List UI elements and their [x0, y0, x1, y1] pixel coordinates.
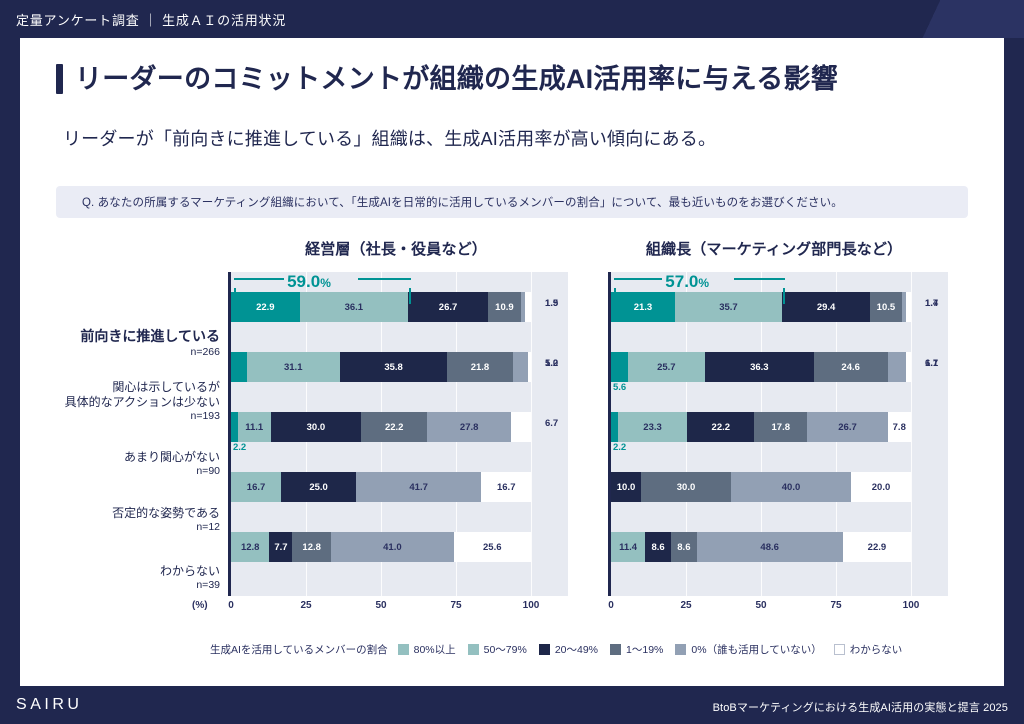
- bar-segment: 16.7: [481, 472, 531, 502]
- legend-label: 0%（誰も活用していない）: [691, 642, 821, 657]
- x-axis-executive: 0255075100: [228, 600, 568, 616]
- x-axis-tick: 100: [523, 600, 540, 611]
- bar-value-outside: 5.2: [545, 358, 558, 369]
- title-text: リーダーのコミットメントが組織の生成AI活用率に与える影響: [75, 66, 838, 93]
- bar-segment: 48.6: [697, 532, 843, 562]
- chart-title-manager: 組織長（マーケティング部門長など）: [604, 238, 944, 259]
- bracket-top-line-left: [234, 278, 284, 280]
- title-accent-bar: [56, 64, 63, 94]
- slide: 定量アンケート調査 ｜ 生成ＡＩの活用状況 リーダーのコミットメントが組織の生成…: [0, 0, 1024, 724]
- legend-item: 50〜79%: [468, 642, 527, 657]
- bar-segment: 12.8: [231, 532, 269, 562]
- x-axis-tick: 25: [300, 600, 311, 611]
- bar-segment: [906, 292, 911, 322]
- legend-item: わからない: [834, 642, 903, 657]
- brand-logo: SAIRU: [16, 696, 83, 714]
- bar-segment: 41.7: [356, 472, 481, 502]
- bar-segment: [231, 352, 247, 382]
- bar-segment: 20.0: [851, 472, 911, 502]
- bar-segment: 7.8: [888, 412, 911, 442]
- bracket-top-line-left: [614, 278, 662, 280]
- row-label-count: n=12: [30, 521, 220, 534]
- bar-segment: 40.0: [731, 472, 851, 502]
- chart-legend: 生成AIを活用しているメンバーの割合 80%以上50〜79%20〜49%1〜19…: [210, 640, 970, 658]
- stacked-bar: 23.322.217.826.77.8: [611, 412, 911, 442]
- row-label: あまり関心がないn=90: [30, 450, 220, 478]
- legend-swatch: [539, 644, 550, 655]
- bar-segment: [511, 412, 531, 442]
- bar-segment: 23.3: [618, 412, 688, 442]
- bar-value-below: 2.2: [613, 442, 626, 453]
- legend-swatch: [675, 644, 686, 655]
- subtitle: リーダーが「前向きに推進している」組織は、生成AI活用率が高い傾向にある。: [63, 125, 716, 151]
- bar-segment: 35.8: [340, 352, 447, 382]
- bar-segment: 36.3: [705, 352, 814, 382]
- question-text: Q. あなたの所属するマーケティング組織において、「生成AIを日常的に活用してい…: [82, 194, 843, 210]
- bar-segment: 25.7: [628, 352, 705, 382]
- chart-manager: 1.71.421.335.729.410.51.76.15.625.736.32…: [608, 272, 948, 596]
- bracket-top-line-right: [734, 278, 785, 280]
- bar-segment: 10.5: [870, 292, 902, 322]
- legend-item: 20〜49%: [539, 642, 598, 657]
- bar-segment: 22.2: [687, 412, 754, 442]
- stacked-bar: 31.135.821.8: [231, 352, 531, 382]
- stacked-bar: 16.725.041.716.7: [231, 472, 531, 502]
- stacked-bar: 10.030.040.020.0: [611, 472, 911, 502]
- bracket-left-tick: [234, 288, 236, 304]
- bar-value-outside: 6.1: [925, 358, 938, 369]
- bracket-top-line-right: [358, 278, 411, 280]
- row-label: わからないn=39: [30, 564, 220, 592]
- row-label-column: 前向きに推進しているn=266関心は示しているが具体的なアクションは少ないn=1…: [28, 272, 220, 596]
- highlight-bracket: 59.0%: [234, 278, 411, 304]
- bar-segment: 16.7: [231, 472, 281, 502]
- bar-segment: [525, 292, 531, 322]
- bar-segment: [528, 352, 531, 382]
- bar-segment: 17.8: [754, 412, 807, 442]
- bar-segment: 26.7: [408, 292, 488, 322]
- row-label-count: n=266: [30, 346, 220, 359]
- bar-value-outside: 1.4: [925, 298, 938, 309]
- legend-label: 50〜79%: [484, 642, 527, 657]
- bracket-label: 57.0%: [665, 272, 709, 292]
- bar-segment: 27.8: [427, 412, 510, 442]
- bar-segment: 25.6: [454, 532, 531, 562]
- x-axis-tick: 75: [450, 600, 461, 611]
- bar-segment: 25.0: [281, 472, 356, 502]
- row-label-count: n=90: [30, 465, 220, 478]
- row-label-name: 関心は示しているが: [30, 380, 220, 395]
- x-axis-tick: 50: [375, 600, 386, 611]
- row-label: 否定的な姿勢であるn=12: [30, 506, 220, 534]
- chart-executive: 1.91.522.936.126.710.91.05.231.135.821.8…: [228, 272, 568, 596]
- legend-label: 1〜19%: [626, 642, 663, 657]
- x-axis-manager: 0255075100: [608, 600, 948, 616]
- legend-item: 0%（誰も活用していない）: [675, 642, 821, 657]
- bar-segment: 22.2: [361, 412, 428, 442]
- bar-value-below: 2.2: [233, 442, 246, 453]
- bar-segment: 12.8: [292, 532, 330, 562]
- bar-segment: [906, 352, 911, 382]
- stacked-bar: 11.130.022.227.8: [231, 412, 531, 442]
- corner-decoration: [854, 0, 1024, 38]
- top-bar: 定量アンケート調査 ｜ 生成ＡＩの活用状況: [0, 0, 1024, 38]
- chart-row: 16.725.041.716.7: [231, 456, 568, 516]
- bracket-label: 59.0%: [287, 272, 331, 292]
- bar-segment: 8.6: [671, 532, 697, 562]
- question-banner: Q. あなたの所属するマーケティング組織において、「生成AIを日常的に活用してい…: [56, 186, 968, 218]
- legend-item: 1〜19%: [610, 642, 663, 657]
- content-card: リーダーのコミットメントが組織の生成AI活用率に与える影響 リーダーが「前向きに…: [20, 38, 1004, 686]
- bracket-left-tick: [614, 288, 616, 304]
- footer-bar: SAIRU BtoBマーケティングにおける生成AI活用の実態と提言 2025: [0, 686, 1024, 724]
- bar-segment: 26.7: [807, 412, 887, 442]
- bracket-right-tick: [783, 288, 785, 304]
- bar-segment: [231, 412, 238, 442]
- bar-value-outside: 6.7: [545, 418, 558, 429]
- bar-segment: 30.0: [641, 472, 731, 502]
- page-title: リーダーのコミットメントが組織の生成AI活用率に与える影響: [56, 64, 838, 94]
- legend-item: 80%以上: [398, 642, 456, 657]
- stacked-bar: 12.87.712.841.025.6: [231, 532, 531, 562]
- legend-label: 20〜49%: [555, 642, 598, 657]
- x-axis-unit: (%): [192, 600, 208, 611]
- bar-segment: [611, 352, 628, 382]
- legend-swatch: [834, 644, 845, 655]
- bar-segment: 31.1: [247, 352, 340, 382]
- row-label-name: 前向きに推進している: [30, 328, 220, 346]
- bar-segment: [888, 352, 906, 382]
- x-axis-tick: 75: [830, 600, 841, 611]
- bar-segment: 11.1: [238, 412, 271, 442]
- bar-segment: 22.9: [843, 532, 912, 562]
- row-label-count: n=193: [30, 410, 220, 423]
- row-label-name: あまり関心がない: [30, 450, 220, 465]
- bar-segment: 30.0: [271, 412, 361, 442]
- legend-swatch: [398, 644, 409, 655]
- chart-row: 12.87.712.841.025.6: [231, 516, 568, 576]
- bar-segment: 24.6: [814, 352, 888, 382]
- bar-segment: 10.9: [488, 292, 521, 322]
- bracket-right-tick: [409, 288, 411, 304]
- bar-segment: [611, 412, 618, 442]
- x-axis-tick: 50: [755, 600, 766, 611]
- footer-note: BtoBマーケティングにおける生成AI活用の実態と提言 2025: [713, 699, 1008, 715]
- row-label: 関心は示しているが具体的なアクションは少ないn=193: [30, 380, 220, 423]
- bar-segment: 7.7: [269, 532, 292, 562]
- bar-value-below: 5.6: [613, 382, 626, 393]
- x-axis-tick: 0: [608, 600, 614, 611]
- x-axis-tick: 100: [903, 600, 920, 611]
- bar-segment: 29.4: [782, 292, 870, 322]
- x-axis-tick: 25: [680, 600, 691, 611]
- stacked-bar: 11.48.68.648.622.9: [611, 532, 911, 562]
- bar-value-outside: 1.5: [545, 298, 558, 309]
- chart-title-executive: 経営層（社長・役員など）: [226, 238, 566, 259]
- legend-swatch: [468, 644, 479, 655]
- chart-row: 1.05.231.135.821.8: [231, 336, 568, 396]
- row-label-name: 具体的なアクションは少ない: [30, 395, 220, 410]
- bar-segment: [513, 352, 529, 382]
- stacked-bar: 25.736.324.6: [611, 352, 911, 382]
- chart-row: 1.76.15.625.736.324.6: [611, 336, 948, 396]
- bar-segment: 21.8: [447, 352, 512, 382]
- bar-segment: 8.6: [645, 532, 671, 562]
- row-label: 前向きに推進しているn=266: [30, 328, 220, 359]
- bar-segment: 11.4: [611, 532, 645, 562]
- legend-swatch: [610, 644, 621, 655]
- row-label-name: わからない: [30, 564, 220, 579]
- chart-row: 6.72.211.130.022.227.8: [231, 396, 568, 456]
- x-axis-tick: 0: [228, 600, 234, 611]
- chart-row: 11.48.68.648.622.9: [611, 516, 948, 576]
- eyebrow-label: 定量アンケート調査 ｜ 生成ＡＩの活用状況: [16, 10, 286, 29]
- legend-title: 生成AIを活用しているメンバーの割合: [210, 642, 388, 657]
- row-label-name: 否定的な姿勢である: [30, 506, 220, 521]
- chart-row: 10.030.040.020.0: [611, 456, 948, 516]
- bar-segment: 10.0: [611, 472, 641, 502]
- chart-row: 2.223.322.217.826.77.8: [611, 396, 948, 456]
- highlight-bracket: 57.0%: [614, 278, 785, 304]
- row-label-count: n=39: [30, 579, 220, 592]
- legend-label: わからない: [850, 642, 903, 657]
- bar-segment: 41.0: [331, 532, 454, 562]
- legend-label: 80%以上: [414, 642, 456, 657]
